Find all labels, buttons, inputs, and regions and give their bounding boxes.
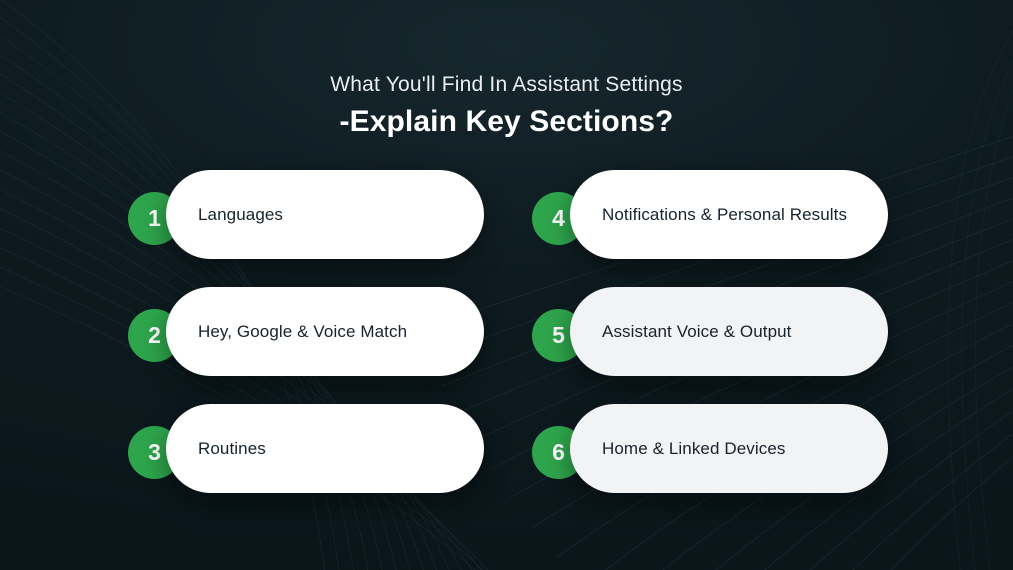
card-label: Routines xyxy=(198,438,266,459)
card-label: Hey, Google & Voice Match xyxy=(198,321,407,342)
cards-column-right: 4 Notifications & Personal Results 5 Ass… xyxy=(532,170,888,521)
infographic-slide: What You'll Find In Assistant Settings -… xyxy=(0,0,1013,570)
card-hey-google-voice-match[interactable]: Hey, Google & Voice Match xyxy=(166,287,484,376)
cards-column-left: 1 Languages 2 Hey, Google & Voice Match … xyxy=(128,170,484,521)
card-row[interactable]: 6 Home & Linked Devices xyxy=(532,404,888,521)
card-badge-number: 4 xyxy=(552,207,565,230)
card-routines[interactable]: Routines xyxy=(166,404,484,493)
subtitle: What You'll Find In Assistant Settings xyxy=(0,72,1013,98)
card-badge-number: 3 xyxy=(148,441,161,464)
card-notifications-personal-results[interactable]: Notifications & Personal Results xyxy=(570,170,888,259)
card-badge-number: 6 xyxy=(552,441,565,464)
card-row[interactable]: 3 Routines xyxy=(128,404,484,521)
card-badge-number: 2 xyxy=(148,324,161,347)
card-label: Home & Linked Devices xyxy=(602,438,786,459)
card-home-linked-devices[interactable]: Home & Linked Devices xyxy=(570,404,888,493)
card-row[interactable]: 2 Hey, Google & Voice Match xyxy=(128,287,484,404)
card-row[interactable]: 1 Languages xyxy=(128,170,484,287)
card-label: Languages xyxy=(198,204,283,225)
card-assistant-voice-output[interactable]: Assistant Voice & Output xyxy=(570,287,888,376)
card-row[interactable]: 4 Notifications & Personal Results xyxy=(532,170,888,287)
header-block: What You'll Find In Assistant Settings -… xyxy=(0,72,1013,141)
card-languages[interactable]: Languages xyxy=(166,170,484,259)
card-badge-number: 5 xyxy=(552,324,565,347)
page-title: -Explain Key Sections? xyxy=(0,103,1013,141)
card-row[interactable]: 5 Assistant Voice & Output xyxy=(532,287,888,404)
card-badge-number: 1 xyxy=(148,207,161,230)
card-label: Notifications & Personal Results xyxy=(602,204,847,225)
card-label: Assistant Voice & Output xyxy=(602,321,792,342)
